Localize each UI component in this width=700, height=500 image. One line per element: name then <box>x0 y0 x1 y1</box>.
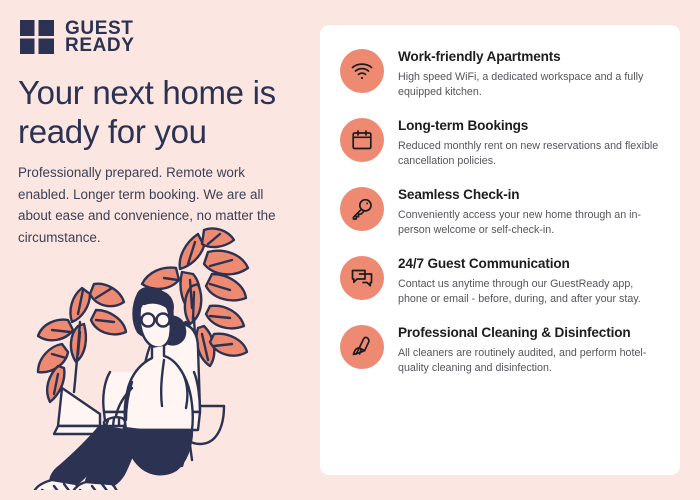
person-with-laptop-and-plants-illustration <box>28 222 310 490</box>
feature-description: High speed WiFi, a dedicated workspace a… <box>398 70 660 100</box>
feature-title: 24/7 Guest Communication <box>398 255 660 273</box>
brand-logo[interactable]: GUEST READY <box>18 19 135 55</box>
brand-name-line2: READY <box>65 37 135 54</box>
feature-title: Professional Cleaning & Disinfection <box>398 324 660 342</box>
feature-description: All cleaners are routinely audited, and … <box>398 346 660 376</box>
feature-title: Work-friendly Apartments <box>398 48 660 66</box>
feature-item[interactable]: Work-friendly Apartments High speed WiFi… <box>340 47 660 100</box>
feature-title: Seamless Check-in <box>398 186 660 204</box>
feature-text: 24/7 Guest Communication Contact us anyt… <box>398 254 660 307</box>
feature-description: Reduced monthly rent on new reservations… <box>398 139 660 169</box>
feature-description: Contact us anytime through our GuestRead… <box>398 277 660 307</box>
calendar-icon <box>340 118 384 162</box>
feature-title: Long-term Bookings <box>398 117 660 135</box>
feature-text: Work-friendly Apartments High speed WiFi… <box>398 47 660 100</box>
chat-bubbles-icon <box>340 256 384 300</box>
feature-item[interactable]: Seamless Check-in Conveniently access yo… <box>340 185 660 238</box>
feature-text: Seamless Check-in Conveniently access yo… <box>398 185 660 238</box>
features-panel: Work-friendly Apartments High speed WiFi… <box>320 25 680 475</box>
wifi-icon <box>340 49 384 93</box>
key-icon <box>340 187 384 231</box>
brand-wordmark: GUEST READY <box>65 20 135 55</box>
hero-column: GUEST READY Your next home is ready for … <box>0 0 310 500</box>
guestready-quadrant-logo-icon <box>18 19 56 55</box>
page-title: Your next home is ready for you <box>18 74 308 152</box>
feature-item[interactable]: Professional Cleaning & Disinfection All… <box>340 323 660 376</box>
feature-description: Conveniently access your new home throug… <box>398 208 660 238</box>
feature-item[interactable]: 24/7 Guest Communication Contact us anyt… <box>340 254 660 307</box>
feature-text: Long-term Bookings Reduced monthly rent … <box>398 116 660 169</box>
broom-icon <box>340 325 384 369</box>
feature-text: Professional Cleaning & Disinfection All… <box>398 323 660 376</box>
feature-item[interactable]: Long-term Bookings Reduced monthly rent … <box>340 116 660 169</box>
